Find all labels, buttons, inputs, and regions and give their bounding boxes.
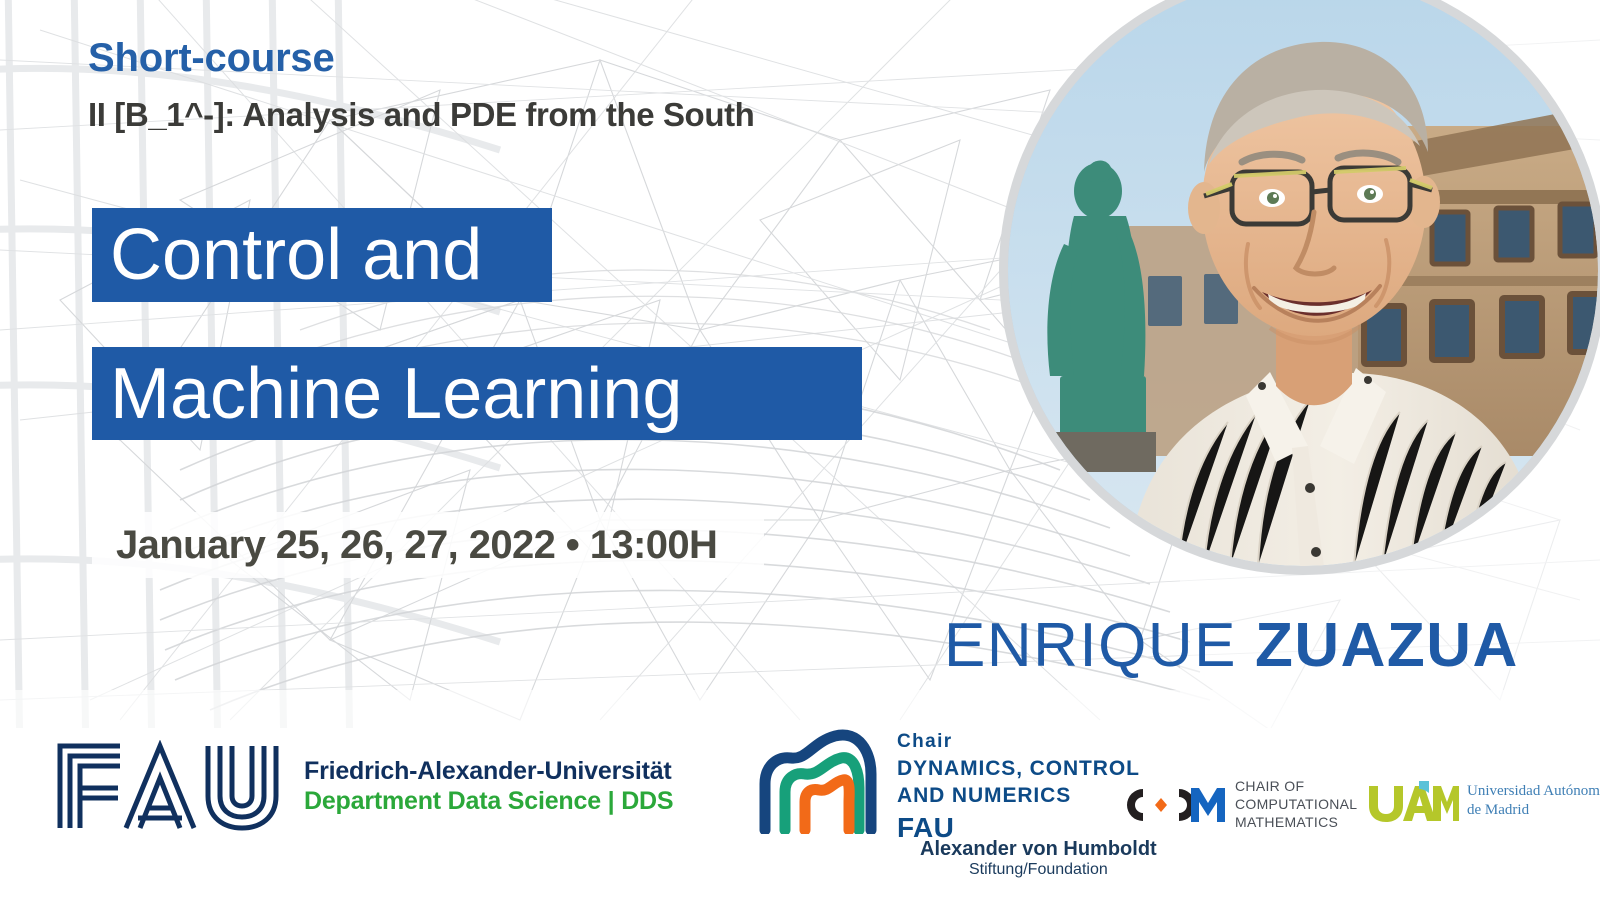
fau-university-name: Friedrich-Alexander-Universität: [304, 756, 673, 787]
speaker-name: ENRIQUE ZUAZUA: [944, 610, 1519, 674]
course-subtitle: II [B_1^-]: Analysis and PDE from the So…: [88, 96, 754, 134]
dcn-chair-label: Chair: [897, 730, 1140, 755]
uam-line-2: de Madrid: [1467, 801, 1600, 821]
dcn-line-1: DYNAMICS, CONTROL: [897, 755, 1140, 782]
uam-logo-mark: [1367, 780, 1459, 822]
fau-department-name: Department Data Science | DDS: [304, 786, 673, 817]
fau-logo-mark: [52, 740, 288, 832]
poster-canvas: Short-course II [B_1^-]: Analysis and PD…: [0, 0, 1600, 900]
title-line-1: Control and: [92, 208, 552, 302]
com-logo-mark: [1117, 785, 1225, 825]
uam-line-1: Universidad Autónoma: [1467, 782, 1600, 802]
dcn-chair-logo: Chair DYNAMICS, CONTROL AND NUMERICS FAU: [755, 726, 1140, 847]
uam-logo-wordmark: Universidad Autónoma de Madrid: [1467, 782, 1600, 821]
title-line-2: Machine Learning: [92, 347, 862, 440]
com-line-1: CHAIR OF: [1235, 778, 1357, 796]
uam-logo: Universidad Autónoma de Madrid: [1367, 780, 1600, 822]
com-chair-logo: CHAIR OF COMPUTATIONAL MATHEMATICS: [1117, 778, 1357, 832]
course-kicker: Short-course: [88, 36, 335, 80]
humboldt-subtitle: Stiftung/Foundation: [920, 861, 1157, 879]
com-logo-wordmark: CHAIR OF COMPUTATIONAL MATHEMATICS: [1235, 778, 1357, 832]
com-line-3: MATHEMATICS: [1235, 814, 1357, 832]
com-line-2: COMPUTATIONAL: [1235, 796, 1357, 814]
speaker-last-name: ZUAZUA: [1255, 610, 1519, 681]
dcn-logo-wordmark: Chair DYNAMICS, CONTROL AND NUMERICS FAU: [897, 730, 1140, 847]
fau-logo-wordmark: Friedrich-Alexander-Universität Departme…: [304, 756, 673, 817]
speaker-first-name: ENRIQUE: [944, 610, 1237, 681]
dcn-line-2: AND NUMERICS: [897, 782, 1140, 809]
speaker-portrait: [1008, 0, 1598, 566]
fau-logo: Friedrich-Alexander-Universität Departme…: [52, 740, 673, 832]
humboldt-name: Alexander von Humboldt: [920, 838, 1157, 861]
dcn-logo-mark: [755, 726, 887, 834]
event-date-time: January 25, 26, 27, 2022 • 13:00H: [92, 512, 764, 578]
humboldt-foundation-logo: Alexander von Humboldt Stiftung/Foundati…: [920, 838, 1157, 879]
